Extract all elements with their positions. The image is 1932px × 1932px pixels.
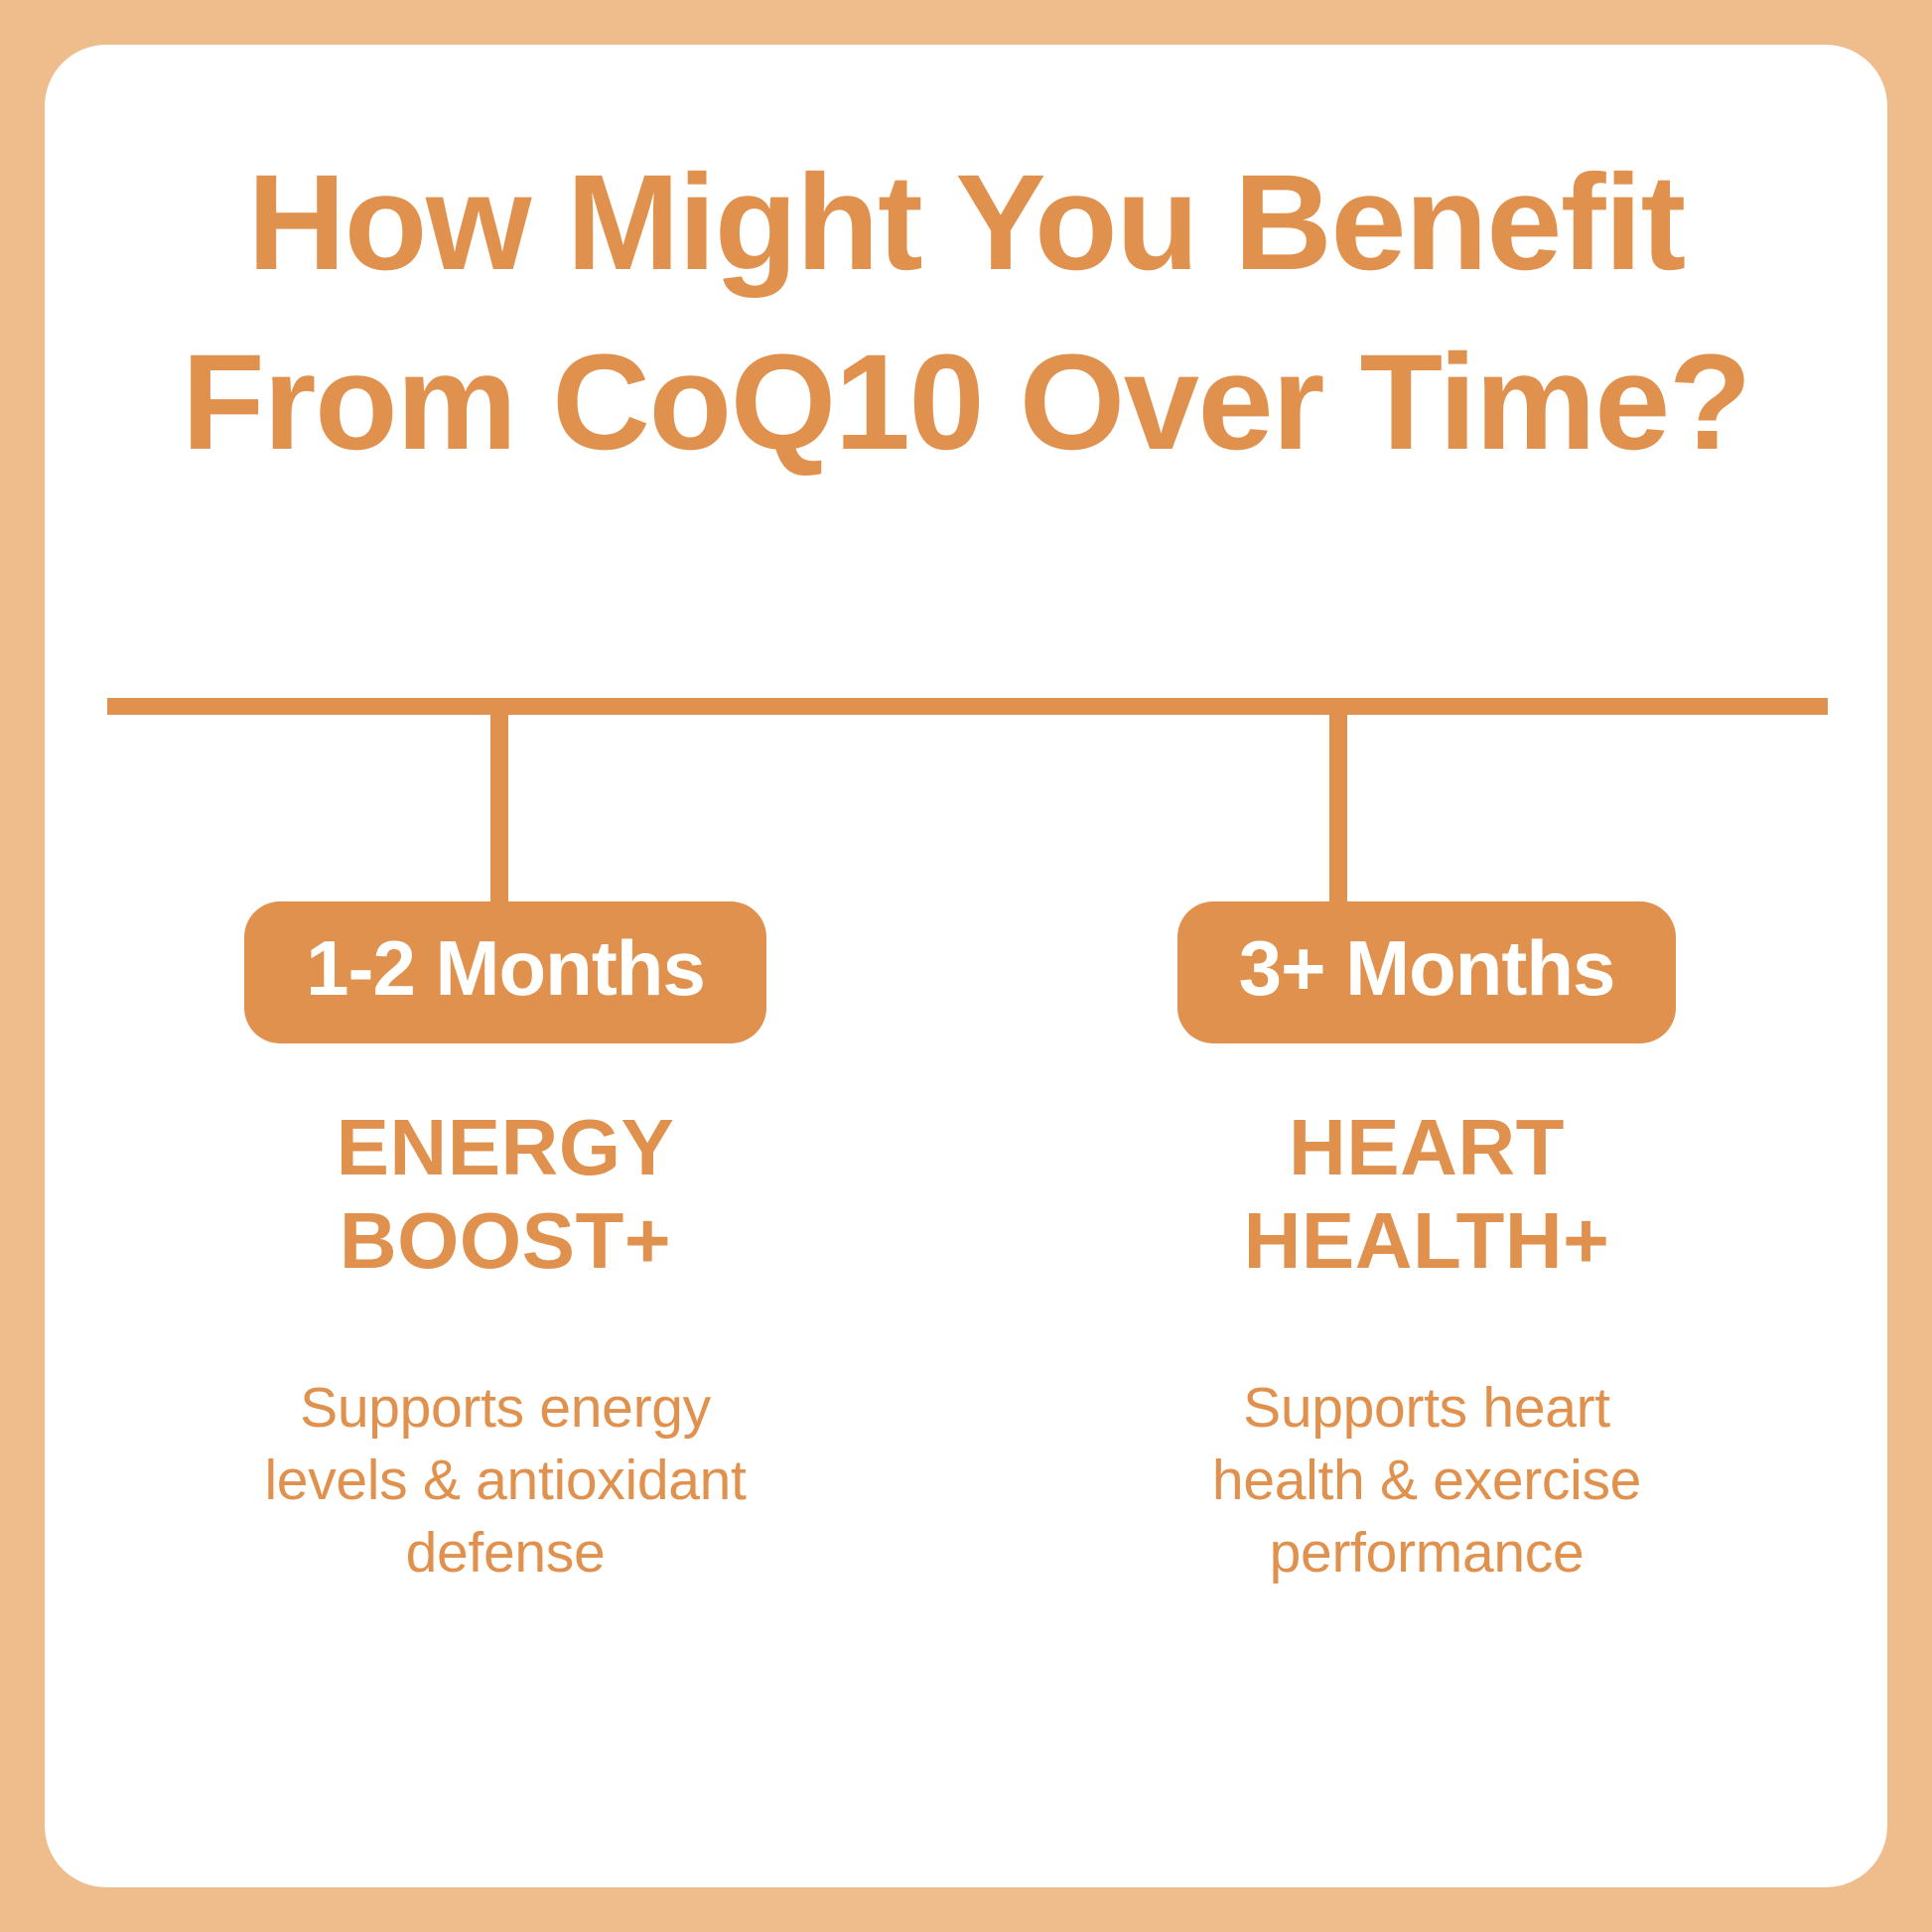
timeframe-badge-1: 1-2 Months bbox=[244, 901, 766, 1043]
branch-column-2: 3+ Months HEART HEALTH+ Supports heart h… bbox=[966, 695, 1887, 1589]
timeframe-badge-2: 3+ Months bbox=[1177, 901, 1677, 1043]
content-card: How Might You Benefit From CoQ10 Over Ti… bbox=[45, 45, 1887, 1887]
branch-columns: 1-2 Months ENERGY BOOST+ Supports energy… bbox=[45, 695, 1887, 1589]
benefit-heading-1: ENERGY BOOST+ bbox=[337, 1101, 675, 1289]
benefit-description-2: Supports heart health & exercise perform… bbox=[1212, 1372, 1641, 1589]
page-title: How Might You Benefit From CoQ10 Over Ti… bbox=[45, 134, 1887, 493]
benefit-heading-2: HEART HEALTH+ bbox=[1244, 1101, 1610, 1289]
infographic-poster: How Might You Benefit From CoQ10 Over Ti… bbox=[0, 0, 1932, 1932]
benefit-description-1: Supports energy levels & antioxidant def… bbox=[264, 1372, 746, 1589]
branch-column-1: 1-2 Months ENERGY BOOST+ Supports energy… bbox=[45, 695, 966, 1589]
